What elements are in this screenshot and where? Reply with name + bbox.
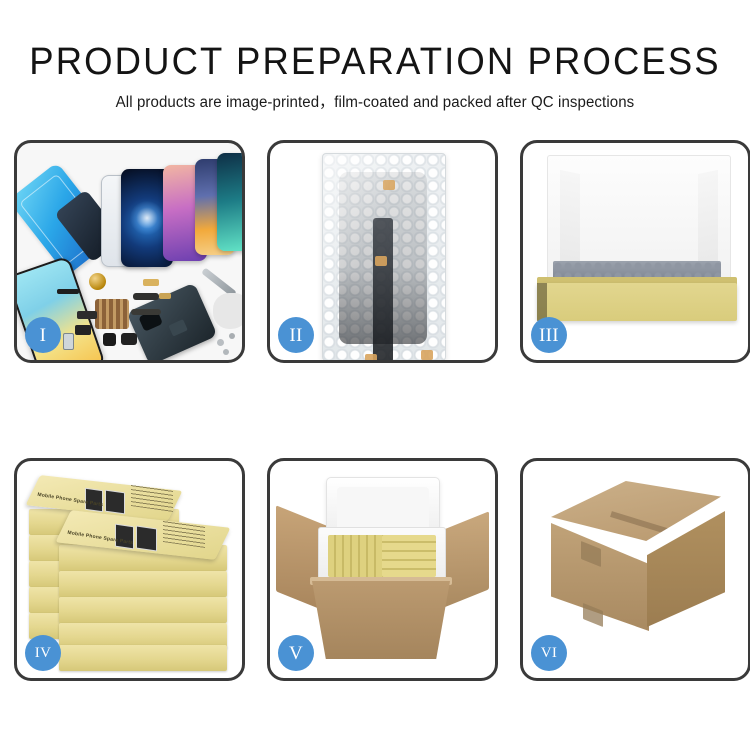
battery-connector-icon <box>63 333 74 350</box>
process-step-panel-4: Mobile Phone Spare Parts Mobile Phone Sp… <box>14 458 245 681</box>
stacked-box-front-3 <box>59 597 227 623</box>
box-print-swatch-front-b <box>136 526 157 552</box>
carton-body-icon <box>312 581 450 659</box>
speaker-coil-icon <box>89 273 106 290</box>
hand-icon <box>213 293 242 329</box>
gold-contact-a-icon <box>143 279 159 286</box>
camera-module-icon <box>103 333 116 346</box>
phone-display-teal-icon <box>217 153 242 251</box>
process-step-panel-6: VI <box>520 458 750 681</box>
stacked-box-front-5 <box>59 645 227 671</box>
step-badge-6: VI <box>531 635 567 671</box>
flex-cable-d-icon <box>75 325 91 335</box>
screw-c-icon <box>223 349 229 355</box>
lid-wing-right-icon <box>698 170 718 270</box>
process-step-panel-3: III <box>520 140 750 363</box>
process-step-panel-1: I <box>14 140 245 363</box>
header: PRODUCT PREPARATION PROCESS All products… <box>0 0 750 112</box>
screw-b-icon <box>229 333 235 339</box>
page-title: PRODUCT PREPARATION PROCESS <box>15 0 735 82</box>
lid-wing-left-icon <box>560 170 580 270</box>
flex-strip-icon <box>57 289 79 294</box>
step-badge-5: V <box>278 635 314 671</box>
speaker-module-icon <box>121 333 137 345</box>
step-badge-1: I <box>25 317 61 353</box>
box-print-swatch-back-b <box>105 490 125 515</box>
gold-contact-b-icon <box>159 293 171 299</box>
process-step-grid: I II <box>14 140 736 681</box>
flex-cable-a-icon <box>133 293 159 300</box>
flex-cable-b-icon <box>131 309 161 315</box>
flex-cable-c-icon <box>77 311 97 319</box>
plastic-gloss-overlay <box>323 154 445 360</box>
step-badge-2: II <box>278 317 314 353</box>
screw-a-icon <box>217 339 224 346</box>
stacked-box-front-2 <box>59 571 227 597</box>
step-badge-3: III <box>531 317 567 353</box>
process-step-panel-5: V <box>267 458 498 681</box>
page-subtitle: All products are image-printed，film-coat… <box>11 82 739 112</box>
chip-array-icon <box>95 299 129 329</box>
yellow-inner-box-icon <box>537 283 737 321</box>
bubble-wrap-bag-icon <box>322 153 446 360</box>
inner-boxes-row-b-icon <box>382 535 436 577</box>
product-preparation-infographic: PRODUCT PREPARATION PROCESS All products… <box>0 0 750 750</box>
process-step-panel-2: II <box>267 140 498 363</box>
step-badge-4: IV <box>25 635 61 671</box>
